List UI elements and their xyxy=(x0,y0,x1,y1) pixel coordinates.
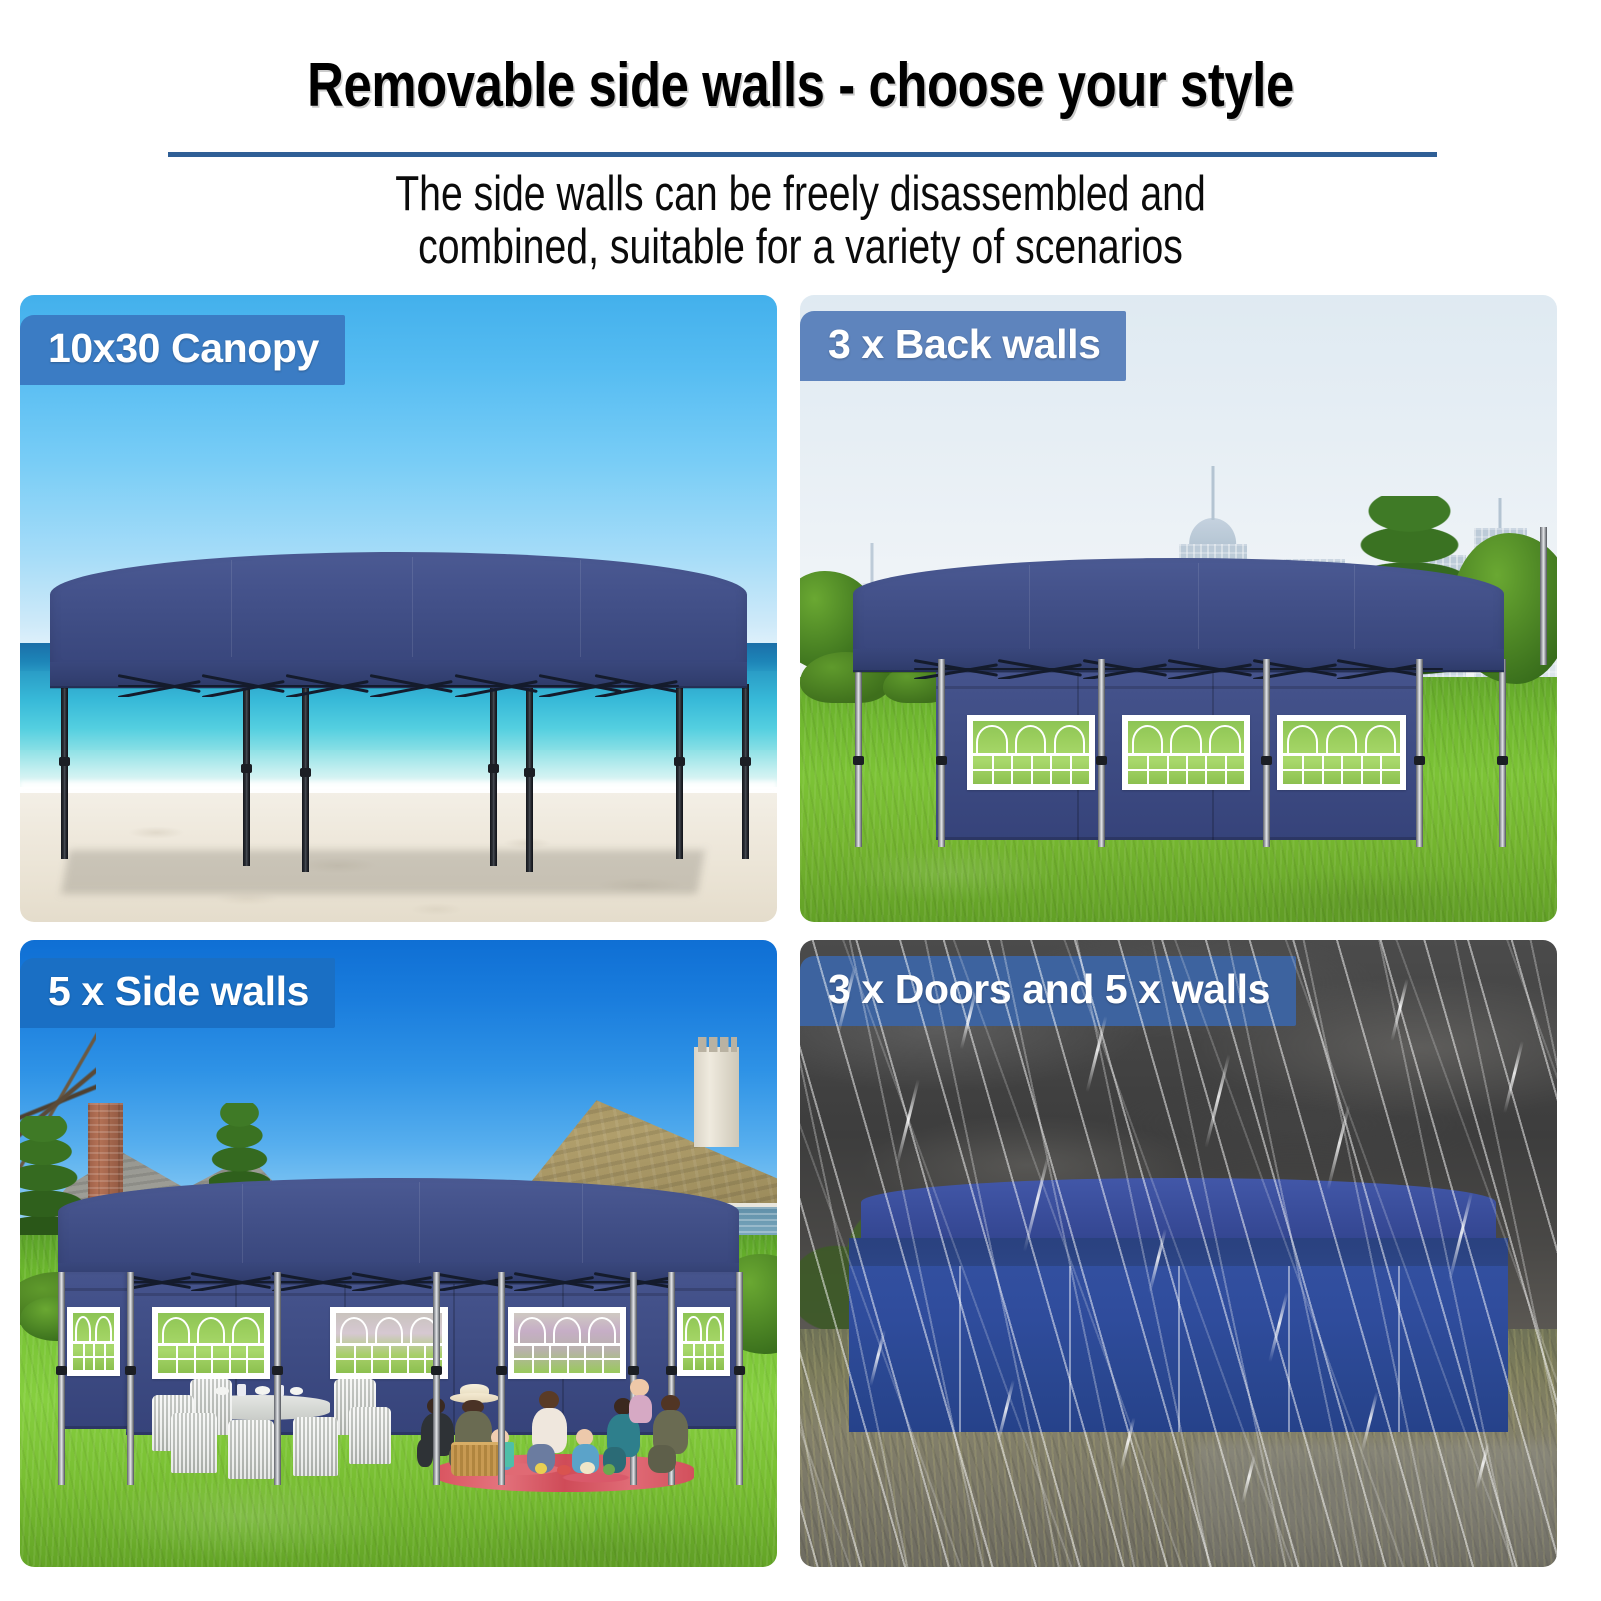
roof-seam xyxy=(1354,565,1355,650)
window-grid xyxy=(158,1344,263,1373)
panel-badge-doors-and-walls: 3 x Doors and 5 x walls xyxy=(800,956,1296,1026)
window-grid xyxy=(1283,754,1400,784)
leg-adjuster xyxy=(740,757,751,766)
arch-pane xyxy=(336,1313,371,1344)
window-mullion xyxy=(1205,754,1207,784)
head xyxy=(630,1379,648,1397)
page-title: Removable side walls - choose your style xyxy=(144,47,1457,125)
truss-rail xyxy=(111,1281,686,1283)
door-seam xyxy=(1288,1257,1290,1433)
roof-seam xyxy=(419,1182,420,1264)
canopy-leg xyxy=(61,684,68,860)
scissor-truss xyxy=(111,1272,686,1291)
leg-adjuster xyxy=(1261,756,1272,765)
leg-adjuster xyxy=(853,756,864,765)
arch-pane xyxy=(549,1313,584,1344)
canopy-leg xyxy=(1499,659,1506,847)
canopy-leg xyxy=(1263,659,1270,847)
page-subtitle: The side walls can be freely disassemble… xyxy=(160,168,1441,274)
wall-window xyxy=(1122,715,1251,790)
window-mullion xyxy=(549,1344,551,1373)
window-mullion xyxy=(693,1342,695,1369)
canopy-leg xyxy=(274,1272,281,1485)
pole xyxy=(1540,527,1547,665)
leg-adjuster xyxy=(674,757,685,766)
arch-pane xyxy=(1206,721,1245,754)
chimney xyxy=(694,1047,739,1147)
window-arch-row xyxy=(158,1313,263,1344)
wall-window xyxy=(508,1307,625,1379)
window-arch-row xyxy=(1283,721,1400,754)
scissor-truss xyxy=(118,674,678,697)
window-mullion xyxy=(407,1344,409,1373)
window-mullion xyxy=(602,1344,604,1373)
patio-chair xyxy=(349,1407,391,1463)
arch-pane xyxy=(371,1313,406,1344)
wall-window xyxy=(967,715,1096,790)
window-view xyxy=(1128,721,1245,784)
window-mullion xyxy=(1322,754,1324,784)
door-seam xyxy=(1069,1257,1071,1433)
window-mullion xyxy=(194,1344,196,1373)
window-mullion xyxy=(714,1342,716,1369)
roof-seam xyxy=(242,1184,243,1264)
panel-badge-side-walls: 5 x Side walls xyxy=(20,958,335,1028)
plate xyxy=(290,1387,303,1395)
leg-adjuster xyxy=(524,768,535,777)
chair-slats xyxy=(171,1413,216,1473)
window-mullion xyxy=(93,1342,95,1369)
arch-pane xyxy=(1011,721,1050,754)
panel-side-walls[interactable]: 5 x Side walls xyxy=(20,940,777,1567)
window-mullion xyxy=(83,1342,85,1369)
window-grid xyxy=(683,1342,724,1369)
head xyxy=(661,1395,680,1412)
canopy-leg xyxy=(1098,659,1105,847)
spire-icon xyxy=(1211,466,1214,520)
canopy-leg xyxy=(742,684,749,860)
chair-slats xyxy=(228,1420,273,1480)
leg xyxy=(648,1445,676,1473)
window-mullion xyxy=(104,1342,106,1369)
arch-pane xyxy=(1361,721,1400,754)
canopy-shadow xyxy=(62,850,706,894)
leg-adjuster xyxy=(272,1366,283,1375)
window-mullion xyxy=(1361,754,1363,784)
arch-pane xyxy=(683,1313,704,1343)
window-mullion xyxy=(211,1344,213,1373)
arch-pane xyxy=(73,1313,94,1343)
canopy-leg xyxy=(736,1272,743,1485)
arch-pane xyxy=(229,1313,264,1344)
drink-bottle xyxy=(504,1442,513,1467)
arch-pane xyxy=(1128,721,1167,754)
canopy-leg xyxy=(490,684,497,866)
window-mullion xyxy=(1380,754,1382,784)
window-view xyxy=(73,1313,114,1370)
roof-seam xyxy=(1198,563,1199,650)
window-view xyxy=(973,721,1090,784)
window-mullion xyxy=(1302,754,1304,784)
window-grid xyxy=(336,1344,441,1373)
panel-badge-canopy-only: 10x30 Canopy xyxy=(20,315,345,385)
scene-backyard xyxy=(20,940,777,1567)
leg-adjuster xyxy=(431,1366,442,1375)
arch-pane xyxy=(158,1313,193,1344)
arch-pane xyxy=(194,1313,229,1344)
window-grid xyxy=(973,754,1090,784)
roof-seam xyxy=(412,557,413,657)
cup xyxy=(237,1384,246,1396)
window-grid xyxy=(514,1344,619,1373)
window-arch-row xyxy=(683,1313,724,1343)
food-item xyxy=(535,1463,547,1474)
window-mullion xyxy=(371,1344,373,1373)
patio-chair xyxy=(171,1413,216,1473)
canopy-leg xyxy=(302,684,309,872)
window-view xyxy=(158,1313,263,1373)
leg-adjuster xyxy=(496,1366,507,1375)
subtitle-line-1: The side walls can be freely disassemble… xyxy=(160,168,1441,221)
picnic-basket xyxy=(451,1442,500,1476)
window-arch-row xyxy=(1128,721,1245,754)
window-mullion xyxy=(532,1344,534,1373)
canopy-leg xyxy=(498,1272,505,1485)
window-mullion xyxy=(1186,754,1188,784)
window-mullion xyxy=(1070,754,1072,784)
leg-adjuster xyxy=(488,764,499,773)
canopy-valance xyxy=(849,1238,1508,1266)
window-mullion xyxy=(389,1344,391,1373)
canopy-leg xyxy=(855,659,862,847)
leg-adjuster xyxy=(59,757,70,766)
canopy-leg xyxy=(433,1272,440,1485)
wall-hem xyxy=(670,1288,738,1291)
leg-adjuster xyxy=(666,1366,677,1375)
roof-seam xyxy=(1029,565,1030,650)
leg-adjuster xyxy=(241,764,252,773)
head xyxy=(539,1391,559,1409)
roof-seam xyxy=(582,1184,583,1264)
scene-city-lawn xyxy=(800,295,1557,922)
plate xyxy=(255,1386,271,1395)
canopy-leg xyxy=(938,659,945,847)
plate xyxy=(215,1387,229,1395)
canopy-leg xyxy=(127,1272,134,1485)
window-mullion xyxy=(1225,754,1227,784)
wall-hem xyxy=(59,1426,127,1429)
truss-rail xyxy=(914,668,1444,670)
window-arch-row xyxy=(73,1313,114,1343)
patio-chair xyxy=(293,1417,338,1477)
enclosed-wall-run[interactable] xyxy=(849,1257,1508,1433)
wall-hem xyxy=(936,686,1420,689)
dome-icon xyxy=(1189,518,1237,544)
window-mullion xyxy=(176,1344,178,1373)
wall-hem xyxy=(59,1288,127,1291)
panel-badge-back-walls: 3 x Back walls xyxy=(800,311,1126,381)
subtitle-line-2: combined, suitable for a variety of scen… xyxy=(160,221,1441,274)
canopy-leg xyxy=(676,684,683,860)
panel-doors-and-walls[interactable]: 3 x Doors and 5 x walls xyxy=(800,940,1557,1567)
canopy-roof xyxy=(50,552,746,677)
leg xyxy=(417,1439,432,1467)
window-mullion xyxy=(1167,754,1169,784)
arch-pane xyxy=(973,721,1012,754)
leg-adjuster xyxy=(125,1366,136,1375)
window-view xyxy=(1283,721,1400,784)
window-mullion xyxy=(354,1344,356,1373)
leg-adjuster xyxy=(936,756,947,765)
window-mullion xyxy=(704,1342,706,1369)
leg-adjuster xyxy=(300,768,311,777)
window-arch-row xyxy=(973,721,1090,754)
arch-pane xyxy=(1283,721,1322,754)
wet-ground xyxy=(1194,1442,1557,1567)
wall-hem xyxy=(126,1293,671,1296)
window-grid xyxy=(1128,754,1245,784)
arch-pane xyxy=(704,1313,724,1343)
wall-window xyxy=(330,1307,447,1379)
canopy-leg xyxy=(1416,659,1423,847)
wall-window xyxy=(152,1307,269,1379)
infographic-page: Removable side walls - choose your style… xyxy=(0,0,1601,1601)
scene-beach xyxy=(20,295,777,922)
tableware xyxy=(209,1383,307,1398)
arch-pane xyxy=(93,1313,113,1343)
chair-slats xyxy=(293,1417,338,1477)
roof-seam xyxy=(231,560,232,658)
window-mullion xyxy=(1031,754,1033,784)
window-mullion xyxy=(584,1344,586,1373)
arch-pane xyxy=(1050,721,1089,754)
panel-grid: 10x30 Canopy xyxy=(0,290,1601,1601)
wall-window xyxy=(677,1307,730,1376)
roof-seam xyxy=(580,560,581,658)
wall-hem xyxy=(936,837,1420,840)
window-view xyxy=(683,1313,724,1370)
leg-adjuster xyxy=(1096,756,1107,765)
wall-window xyxy=(67,1307,120,1376)
leg-adjuster xyxy=(628,1366,639,1375)
door-seam xyxy=(959,1257,961,1433)
canopy-leg xyxy=(526,684,533,872)
door-seam xyxy=(1398,1257,1400,1433)
window-mullion xyxy=(1341,754,1343,784)
window-mullion xyxy=(229,1344,231,1373)
header: Removable side walls - choose your style… xyxy=(0,0,1601,290)
leg-adjuster xyxy=(1497,756,1508,765)
panel-canopy-only[interactable]: 10x30 Canopy xyxy=(20,295,777,922)
arch-pane xyxy=(514,1313,549,1344)
window-mullion xyxy=(1050,754,1052,784)
scene-rainstorm xyxy=(800,940,1557,1567)
title-divider xyxy=(168,152,1437,157)
leg-adjuster xyxy=(734,1366,745,1375)
person-adult xyxy=(648,1395,697,1473)
chair-slats xyxy=(349,1407,391,1463)
patio-chair xyxy=(228,1420,273,1480)
window-mullion xyxy=(1011,754,1013,784)
wall-window xyxy=(1277,715,1406,790)
chimney-pots xyxy=(698,1037,737,1052)
canopy-leg xyxy=(243,684,250,866)
window-grid xyxy=(73,1342,114,1369)
window-arch-row xyxy=(514,1313,619,1344)
arch-pane xyxy=(584,1313,619,1344)
window-arch-row xyxy=(336,1313,441,1344)
antenna-icon xyxy=(1499,498,1502,528)
window-mullion xyxy=(1147,754,1149,784)
window-view xyxy=(336,1313,441,1373)
canopy-roof-group xyxy=(50,552,746,677)
door-seam xyxy=(1178,1257,1180,1433)
leg-adjuster xyxy=(1414,756,1425,765)
window-mullion xyxy=(567,1344,569,1373)
window-view xyxy=(514,1313,619,1373)
panel-back-walls[interactable]: 3 x Back walls xyxy=(800,295,1557,922)
window-mullion xyxy=(424,1344,426,1373)
canopy-leg xyxy=(58,1272,65,1485)
window-mullion xyxy=(992,754,994,784)
arch-pane xyxy=(1322,721,1361,754)
scissor-truss xyxy=(914,659,1444,679)
window-mullion xyxy=(246,1344,248,1373)
truss-rail xyxy=(118,685,678,687)
leg-adjuster xyxy=(56,1366,67,1375)
arch-pane xyxy=(1167,721,1206,754)
